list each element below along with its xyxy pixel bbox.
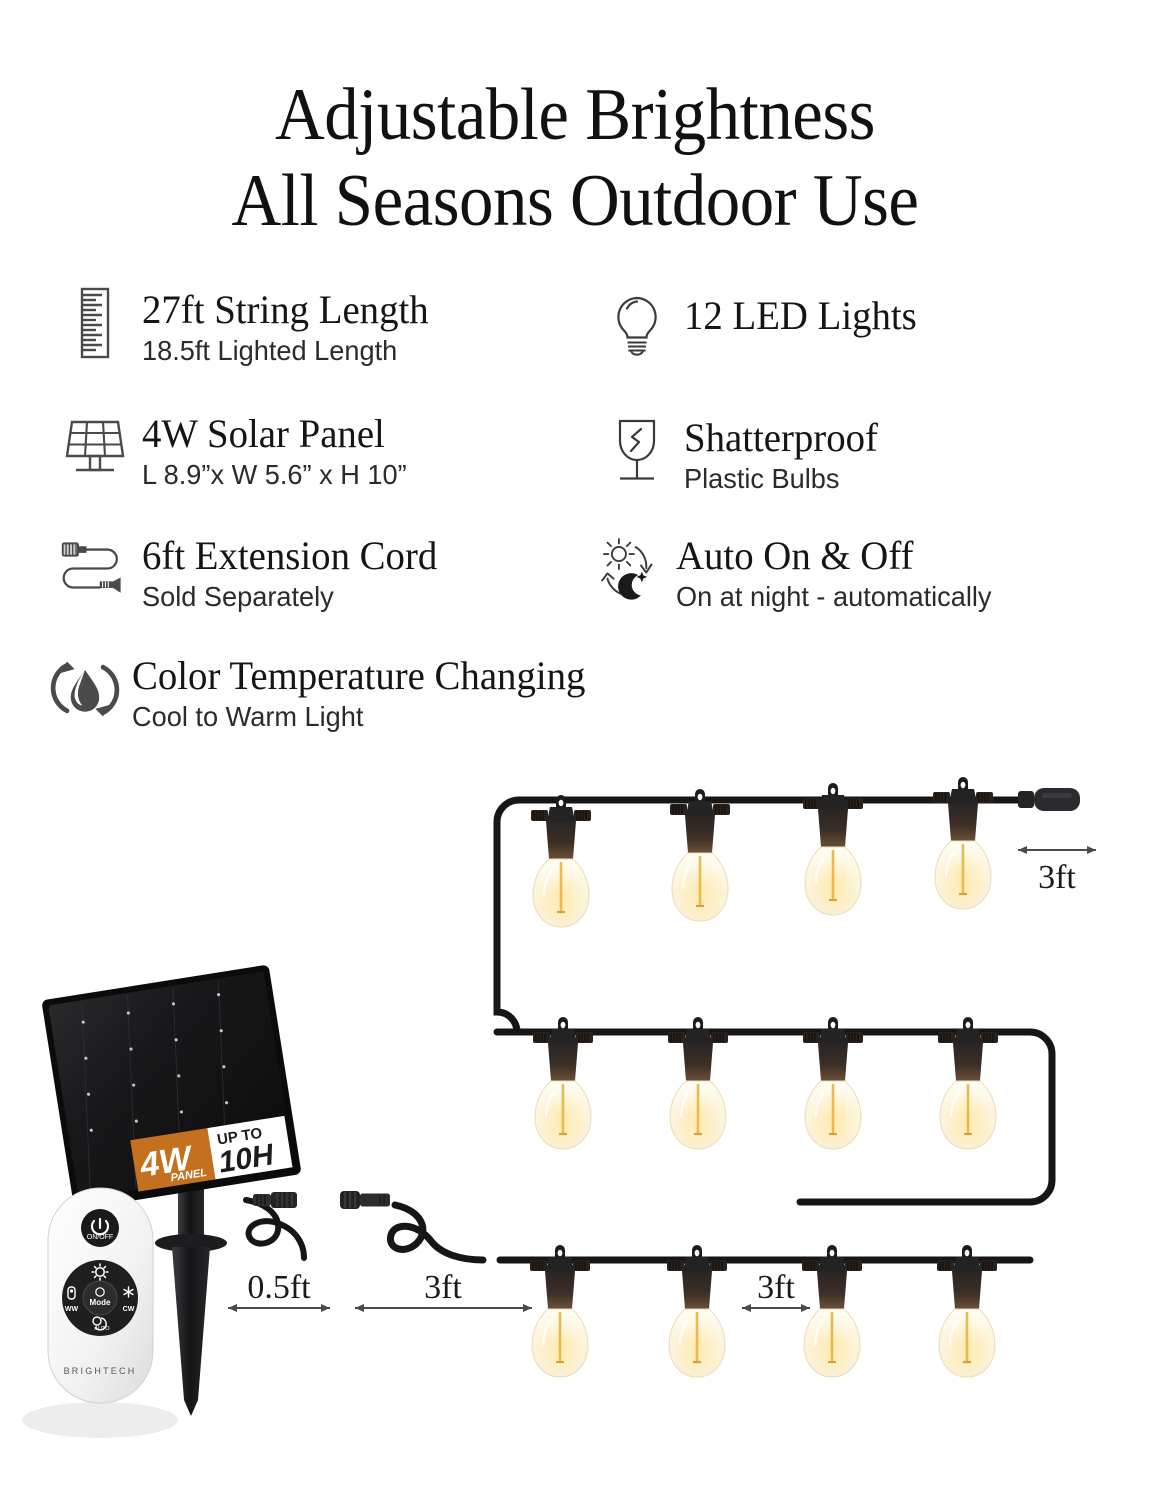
dimension-label-0: 0.5ft [247,1269,311,1306]
feature-text: Shatterproof Plastic Bulbs [674,414,884,496]
dimension-label-3: 3ft [1038,859,1076,896]
remote-control: ON/OFF [22,1188,178,1438]
bulb [670,789,730,921]
feature-title: Color Temperature Changing [132,654,585,698]
feature-solar-panel: 4W Solar Panel L 8.9”x W 5.6” x H 10” [58,410,415,492]
extension-cord-icon [58,532,132,606]
bulb [667,1245,727,1377]
ground-stake [155,1185,227,1416]
remote-auto-label: AUTO [94,1326,110,1332]
feature-led-lights: 12 LED Lights [600,292,924,366]
feature-string-length: 27ft String Length 18.5ft Lighted Length [58,286,438,368]
bulb-row-middle [533,1017,998,1149]
feature-title: Auto On & Off [676,534,992,578]
lightbulb-icon [600,292,674,366]
headline-line-2: All Seasons Outdoor Use [40,158,1110,244]
headline-line-1: Adjustable Brightness [40,72,1110,158]
bulb [803,1017,863,1149]
feature-subtitle: Plastic Bulbs [684,462,878,496]
infographic-page: Adjustable Brightness All Seasons Outdoo… [0,0,1150,1500]
feature-subtitle: Sold Separately [142,580,437,614]
product-illustration: 4W PANEL UP TO 10H [0,760,1150,1500]
remote-cool-label: CW [123,1306,135,1313]
feature-subtitle: L 8.9”x W 5.6” x H 10” [142,458,407,492]
feature-text: 6ft Extension Cord Sold Separately [132,532,446,614]
remote-power-label: ON/OFF [87,1234,113,1241]
bulb [531,795,591,927]
color-temperature-icon [48,652,122,726]
feature-text: Color Temperature Changing Cool to Warm … [122,652,599,734]
feature-text: 12 LED Lights [674,292,924,338]
dimension-label-1: 3ft [424,1269,462,1306]
remote-mode-label: Mode [90,1298,111,1307]
feature-text: 4W Solar Panel L 8.9”x W 5.6” x H 10” [132,410,415,492]
feature-list: 27ft String Length 18.5ft Lighted Length… [0,286,1150,756]
sun-moon-cycle-icon [596,532,670,606]
feature-title: 27ft String Length [142,288,429,332]
feature-subtitle: Cool to Warm Light [132,700,585,734]
feature-extension-cord: 6ft Extension Cord Sold Separately [58,532,446,614]
remote-warm-label: WW [65,1306,79,1313]
product-scene: 4W PANEL UP TO 10H [0,760,1150,1500]
bulb [668,1017,728,1149]
ruler-icon [58,286,132,360]
broken-glass-icon [600,414,674,488]
feature-title: 6ft Extension Cord [142,534,437,578]
feature-color-temperature: Color Temperature Changing Cool to Warm … [48,652,599,734]
feature-subtitle: On at night - automatically [676,580,992,614]
remote-brand-label: BRIGHTECH [64,1366,137,1376]
cord-connector-male [253,1192,297,1208]
string-end-cap [1018,788,1080,811]
feature-text: Auto On & Off On at night - automaticall… [670,532,1001,614]
feature-auto-on-off: Auto On & Off On at night - automaticall… [596,532,1001,614]
feature-title: 4W Solar Panel [142,412,407,456]
bulb [530,1245,590,1377]
feature-title: 12 LED Lights [684,294,917,338]
feature-title: Shatterproof [684,416,878,460]
feature-subtitle: 18.5ft Lighted Length [142,334,429,368]
headline-block: Adjustable Brightness All Seasons Outdoo… [0,72,1150,244]
bulb [802,1245,862,1377]
bulb-row-bottom [530,1245,997,1377]
bulb [938,1017,998,1149]
solar-panel-icon [58,410,132,484]
feature-text: 27ft String Length 18.5ft Lighted Length [132,286,438,368]
bulb [937,1245,997,1377]
bulb [803,783,863,915]
feature-shatterproof: Shatterproof Plastic Bulbs [600,414,884,496]
cord-connector-female [340,1191,390,1209]
bulb [933,777,993,909]
dimension-label-2: 3ft [757,1269,795,1306]
bulb [533,1017,593,1149]
